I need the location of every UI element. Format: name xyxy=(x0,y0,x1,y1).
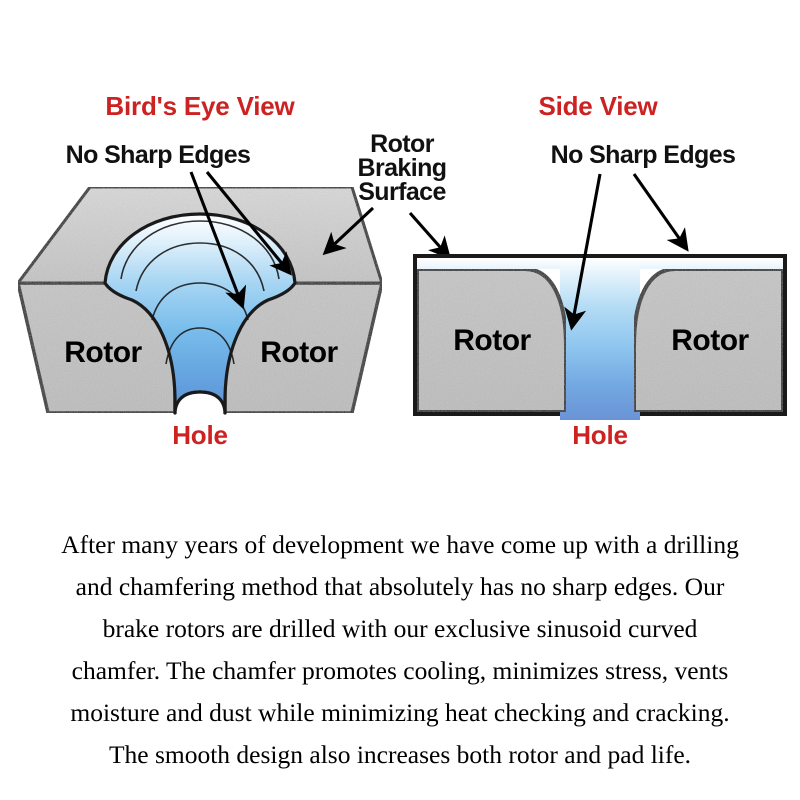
description-line-1: After many years of development we have … xyxy=(10,524,790,566)
side-view-group: Side View No Sharp Edges Rotor Rotor Hol… xyxy=(415,91,785,450)
rotor-braking-surface-arrow-right xyxy=(410,213,448,256)
side-view-hole-label: Hole xyxy=(572,420,628,450)
rotor-braking-surface-line3: Surface xyxy=(358,178,446,206)
side-view-title: Side View xyxy=(538,91,658,121)
birds-eye-rotor-right-label: Rotor xyxy=(260,336,338,369)
birds-eye-no-sharp-edges-label: No Sharp Edges xyxy=(66,141,251,169)
birds-eye-hole-label: Hole xyxy=(172,420,228,450)
description-line-4: chamfer. The chamfer promotes cooling, m… xyxy=(10,650,790,692)
description-line-5: moisture and dust while minimizing heat … xyxy=(10,692,790,734)
description-line-2: and chamfering method that absolutely ha… xyxy=(10,566,790,608)
diagram-page: Bird's Eye View No Sharp Edges Rotor Rot… xyxy=(0,0,800,800)
description-line-6: The smooth design also increases both ro… xyxy=(10,734,790,776)
side-view-no-sharp-edges-arrow-right xyxy=(634,174,686,248)
birds-eye-view-group: Bird's Eye View No Sharp Edges Rotor Rot… xyxy=(18,91,382,450)
side-view-rotor-right-label: Rotor xyxy=(671,324,749,357)
side-view-no-sharp-edges-label: No Sharp Edges xyxy=(551,141,736,169)
description-line-3: brake rotors are drilled with our exclus… xyxy=(10,608,790,650)
side-view-hole-column xyxy=(560,258,640,420)
hole-arch-birds-eye xyxy=(175,392,225,414)
birds-eye-title: Bird's Eye View xyxy=(105,91,295,121)
description-paragraph: After many years of development we have … xyxy=(0,524,800,776)
birds-eye-rotor-left-label: Rotor xyxy=(64,336,142,369)
side-view-rotor-left-label: Rotor xyxy=(453,324,531,357)
